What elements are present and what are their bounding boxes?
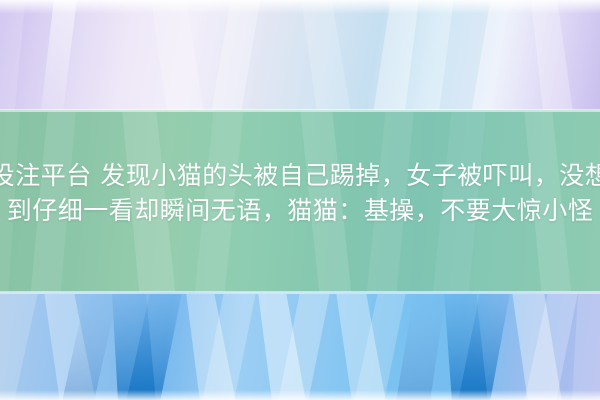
band-divider-upper [0,109,600,112]
top-edge-glow [0,0,600,14]
banner-headline: 投注平台 发现小猫的头被自己踢掉，女子被吓叫，没想到仔细一看却瞬间无语，猫猫：基… [0,158,600,228]
background-band-bottom [0,292,600,400]
bottom-edge-glow [0,390,600,400]
background-band-top [0,0,600,112]
promo-banner: 投注平台 发现小猫的头被自己踢掉，女子被吓叫，没想到仔细一看却瞬间无语，猫猫：基… [0,0,600,400]
band-divider-lower [0,291,600,294]
